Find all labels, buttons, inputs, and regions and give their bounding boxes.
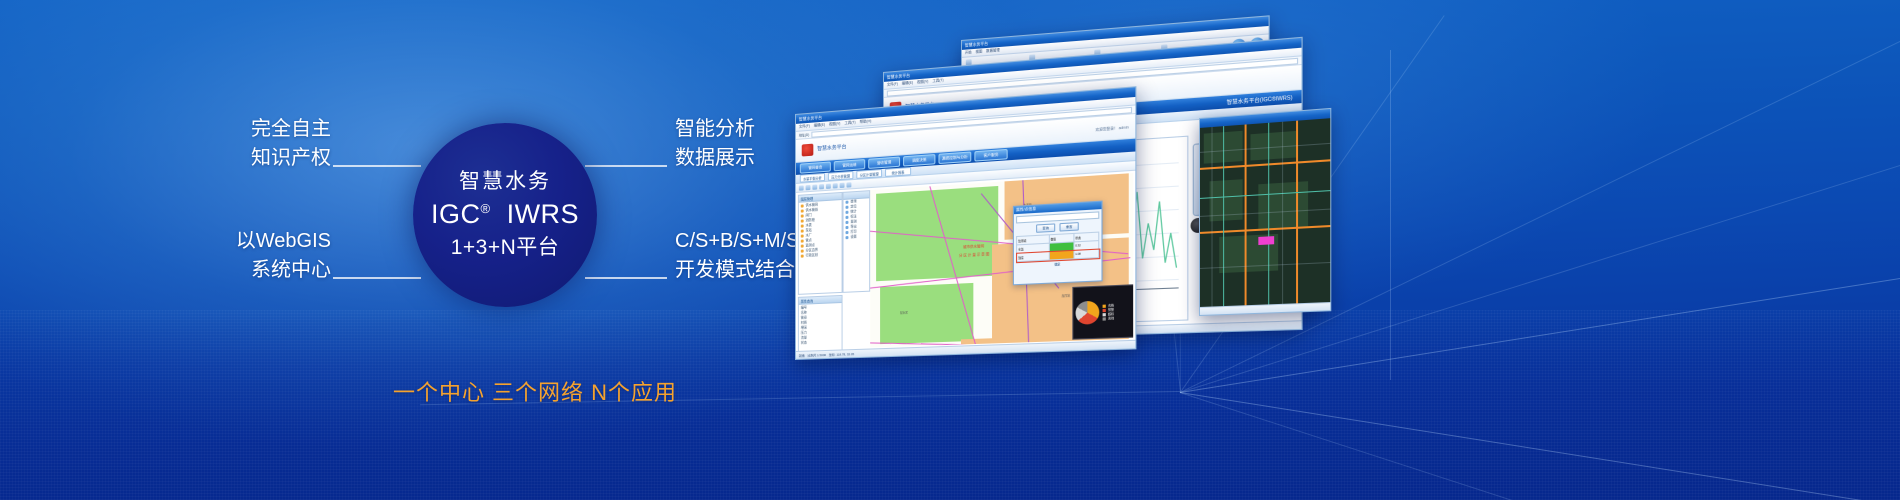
map-label: 加压站 <box>1062 293 1070 298</box>
connector-bottom-right <box>585 277 667 279</box>
tool-icon-measure[interactable] <box>833 183 838 188</box>
feature-top-left-line1: 完全自主 <box>245 115 331 144</box>
tool-icon-print[interactable] <box>840 182 845 187</box>
feature-label-top-right: 智能分析 数据展示 <box>675 115 755 173</box>
satellite-map[interactable] <box>1200 118 1330 307</box>
dialog-reset-button[interactable]: 重置 <box>1059 222 1078 232</box>
attribute-list: 编号 名称 管径 材质 埋深 压力 流量 状态 <box>799 303 842 346</box>
front-menu-1[interactable]: 编辑(E) <box>814 123 825 129</box>
feature-bottom-right-line1: C/S+B/S+M/S <box>675 227 800 256</box>
middle-menu-1[interactable]: 编辑(E) <box>902 81 913 87</box>
front-status-0: 就绪 <box>799 353 805 357</box>
ribbon-tab-1[interactable]: 视图 <box>975 49 982 55</box>
connector-bottom-left <box>333 277 421 279</box>
front-status-2: 坐标: 118.78, 32.05 <box>829 352 854 357</box>
layer-tree-item[interactable]: 行政区划 <box>799 252 842 259</box>
gis-map-canvas[interactable]: 城市供水管网 分 区 计 量 示 意 图 主干管 配水区 加压站 属性/点信息 … <box>870 173 1133 347</box>
dialog-table: 监测项数值状态 余氯0.32 浊度1.08 <box>1016 232 1099 263</box>
feature-label-top-left: 完全自主 知识产权 <box>245 115 331 173</box>
tool-icon-zoom-in[interactable] <box>812 184 817 189</box>
tool-icon-zoom-out[interactable] <box>819 184 824 189</box>
water-quality-pie <box>1076 301 1100 325</box>
sat-block-3 <box>1258 181 1308 229</box>
grid-line-4 <box>1180 392 1900 500</box>
front-window-title: 智慧水务平台 <box>799 114 822 122</box>
promo-banner: 智慧水务 IGC® IWRS 1+3+N平台 完全自主 知识产权 智能分析 数据… <box>0 0 1900 500</box>
infographic: 智慧水务 IGC® IWRS 1+3+N平台 完全自主 知识产权 智能分析 数据… <box>255 105 815 415</box>
back-window-title: 智慧水务平台 <box>965 40 988 48</box>
feature-label-bottom-right: C/S+B/S+M/S 开发模式结合 <box>675 227 800 285</box>
front-brand-line2: 智慧水务平台 <box>817 144 846 153</box>
map-label: 配水区 <box>900 310 908 314</box>
app-window-front[interactable]: 智慧水务平台 文件(F) 编辑(E) 视图(V) 工具(T) 帮助(H) 地址(… <box>795 86 1136 360</box>
feature-top-right-line1: 智能分析 <box>675 115 755 144</box>
sat-waterline-1 <box>1223 126 1224 307</box>
front-menu-0[interactable]: 文件(F) <box>799 124 810 130</box>
screenshot-stack: 智慧水务平台 开始 视图 数据管理 <box>795 40 1535 370</box>
connector-top-left <box>333 165 421 167</box>
attribute-row: 状态 <box>799 339 842 346</box>
ribbon-tab-2[interactable]: 数据管理 <box>986 48 1000 54</box>
dialog-query-button[interactable]: 查询 <box>1036 223 1055 232</box>
dialog-body: 查询 重置 监测项数值状态 余氯0.32 浊度1.08 确定 <box>1014 209 1102 271</box>
feature-bottom-left-line2: 系统中心 <box>225 256 331 285</box>
water-quality-widget[interactable]: 合格 预警 超标 离线 <box>1072 284 1133 340</box>
feature-label-bottom-left: 以WebGIS 系统中心 <box>225 227 331 285</box>
sat-grid-v-1 <box>1282 122 1283 307</box>
sat-road-v-1 <box>1296 121 1298 307</box>
dialog-cell-name: 浊度 <box>1017 252 1049 262</box>
badge-line-2: IGC® IWRS <box>431 196 579 232</box>
tool-icon-pan[interactable] <box>806 184 811 189</box>
sat-waterline-2 <box>1268 123 1269 307</box>
badge-igc: IGC <box>431 199 481 229</box>
connector-top-right <box>585 165 667 167</box>
feature-bottom-left-line1: 以WebGIS <box>225 227 331 256</box>
point-info-dialog[interactable]: 属性/点信息 查询 重置 监测项数值状态 余氯0.32 <box>1013 201 1103 286</box>
front-menu-3[interactable]: 工具(T) <box>844 120 855 126</box>
middle-window-title: 智慧水务平台 <box>887 72 910 80</box>
water-quality-legend: 合格 预警 超标 离线 <box>1103 303 1115 320</box>
tool-palette-item[interactable]: 设置 <box>844 234 870 240</box>
grid-line-5 <box>1180 392 1900 500</box>
tool-icon-identify[interactable] <box>826 183 831 188</box>
badge-iwrs: IWRS <box>507 199 580 229</box>
ribbon-tab-0[interactable]: 开始 <box>965 50 972 56</box>
layer-tree[interactable]: 供水管网 供水管线 阀门 消防栓 水表 泵站 水厂 管点 监测点 分区边界 行政… <box>799 200 842 259</box>
front-address-label: 地址(D) <box>799 132 809 138</box>
middle-menu-3[interactable]: 工具(T) <box>932 78 943 84</box>
brand-logo-icon <box>802 144 814 157</box>
feature-bottom-right-line2: 开发模式结合 <box>675 256 800 285</box>
registered-icon: ® <box>480 201 490 216</box>
sat-grid-v-0 <box>1212 127 1213 307</box>
app-window-satellite[interactable] <box>1199 108 1331 316</box>
sat-road-v-0 <box>1245 124 1247 307</box>
tagline: 一个中心 三个网络 N个应用 <box>255 375 815 407</box>
middle-menu-2[interactable]: 视图(V) <box>917 79 928 85</box>
dialog-cell-value: 1.08 <box>1074 249 1099 259</box>
feature-top-right-line2: 数据展示 <box>675 144 755 173</box>
layer-panel[interactable]: 图层管理 供水管网 供水管线 阀门 消防栓 水表 泵站 水厂 管点 监测点 分区… <box>798 192 843 295</box>
map-annotation: 城市供水管网 <box>963 243 984 249</box>
feature-top-left-line2: 知识产权 <box>245 144 331 173</box>
tool-palette[interactable]: 查询 定位 统计 标注 量测 导出 打印 设置 <box>843 190 871 293</box>
middle-menu-0[interactable]: 文件(F) <box>887 82 898 88</box>
tool-icon-pointer[interactable] <box>799 185 804 190</box>
badge-line-1: 智慧水务 <box>459 168 551 196</box>
front-status-1: 比例尺 1:5000 <box>808 352 826 357</box>
front-window-body: 图层管理 供水管网 供水管线 阀门 消防栓 水表 泵站 水厂 管点 监测点 分区… <box>796 171 1135 359</box>
tool-icon-layers[interactable] <box>846 182 851 187</box>
sat-highlight-marker[interactable] <box>1258 236 1274 245</box>
center-badge: 智慧水务 IGC® IWRS 1+3+N平台 <box>413 123 597 307</box>
legend-item: 离线 <box>1103 316 1115 321</box>
front-menu-2[interactable]: 视图(V) <box>829 121 840 127</box>
front-brand-welcome: 欢迎您登录！ admin <box>1095 124 1128 132</box>
dialog-status-cell <box>1049 250 1074 260</box>
badge-line-3: 1+3+N平台 <box>451 233 560 262</box>
front-menu-4[interactable]: 帮助(H) <box>860 119 872 125</box>
